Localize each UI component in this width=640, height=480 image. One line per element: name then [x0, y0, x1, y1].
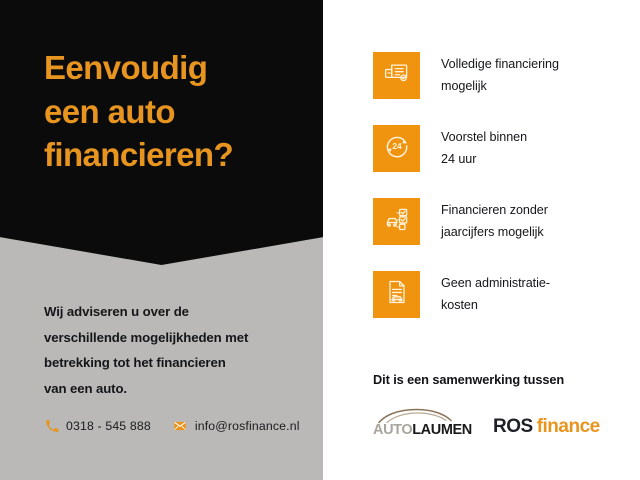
headline-line-3: financieren? [44, 133, 312, 177]
ros-word-finance: finance [537, 416, 600, 437]
feature-text: Voorstel binnen 24 uur [441, 125, 527, 170]
feature-line-2: jaarcijfers mogelijk [441, 222, 548, 244]
promotional-poster: Eenvoudig een auto financieren? Wij advi… [0, 0, 640, 480]
body-line-1: Wij adviseren u over de [44, 299, 306, 325]
headline-line-2: een auto [44, 90, 312, 134]
email-address: info@rosfinance.nl [195, 419, 300, 433]
headline-line-1: Eenvoudig [44, 46, 312, 90]
feature-list: Volledige financiering mogelijk 24 [373, 52, 635, 344]
left-panel: Eenvoudig een auto financieren? Wij advi… [0, 0, 323, 480]
body-line-2: verschillende mogelijkheden met [44, 325, 306, 351]
feature-icon-box: 24 [373, 125, 420, 172]
feature-line-2: 24 uur [441, 149, 527, 171]
svg-text:24: 24 [392, 141, 402, 151]
feature-item: Financieren zonder jaarcijfers mogelijk [373, 198, 635, 246]
contact-phone[interactable]: 0318 - 545 888 [44, 418, 151, 433]
phone-icon [44, 418, 59, 433]
feature-icon-box [373, 52, 420, 99]
phone-number: 0318 - 545 888 [66, 419, 151, 433]
feature-text: Volledige financiering mogelijk [441, 52, 559, 97]
feature-line-1: Voorstel binnen [441, 127, 527, 149]
feature-line-2: mogelijk [441, 76, 559, 98]
body-line-3: betrekking tot het financieren [44, 350, 306, 376]
ros-finance-logo[interactable]: ROSfinance [493, 417, 600, 437]
ros-word-ros: ROS [493, 416, 533, 437]
partner-logo-row: AUTOLAUMEN ROSfinance [373, 407, 635, 437]
page-title: Eenvoudig een auto financieren? [44, 46, 312, 177]
feature-item: Volledige financiering mogelijk [373, 52, 635, 100]
auto-laumen-wordmark: AUTOLAUMEN [373, 423, 472, 438]
feature-item: Geen administratie- kosten [373, 271, 635, 319]
envelope-icon [173, 418, 188, 433]
contact-row: 0318 - 545 888 info@rosfinance.nl [44, 418, 300, 433]
partnership-section: Dit is een samenwerking tussen AUTOLAUME… [373, 372, 635, 437]
feature-item: 24 Voorstel binnen 24 uur [373, 125, 635, 173]
clock-24-hour-icon: 24 [383, 132, 411, 165]
body-copy: Wij adviseren u over de verschillende mo… [44, 299, 306, 402]
feature-line-1: Geen administratie- [441, 273, 550, 295]
feature-text: Geen administratie- kosten [441, 271, 550, 316]
document-car-icon [383, 278, 411, 311]
feature-icon-box [373, 271, 420, 318]
feature-line-1: Financieren zonder [441, 200, 548, 222]
right-panel: Volledige financiering mogelijk 24 [323, 0, 640, 480]
feature-line-2: kosten [441, 295, 550, 317]
laumen-word-auto: AUTO [373, 422, 412, 438]
feature-line-1: Volledige financiering [441, 54, 559, 76]
auto-laumen-logo[interactable]: AUTOLAUMEN [373, 407, 465, 437]
feature-icon-box [373, 198, 420, 245]
delivery-truck-icon [383, 59, 411, 92]
body-line-4: van een auto. [44, 376, 306, 402]
car-checklist-icon [383, 205, 411, 238]
laumen-word-laumen: LAUMEN [412, 422, 472, 438]
partnership-title: Dit is een samenwerking tussen [373, 372, 635, 387]
feature-text: Financieren zonder jaarcijfers mogelijk [441, 198, 548, 243]
contact-email[interactable]: info@rosfinance.nl [173, 418, 300, 433]
